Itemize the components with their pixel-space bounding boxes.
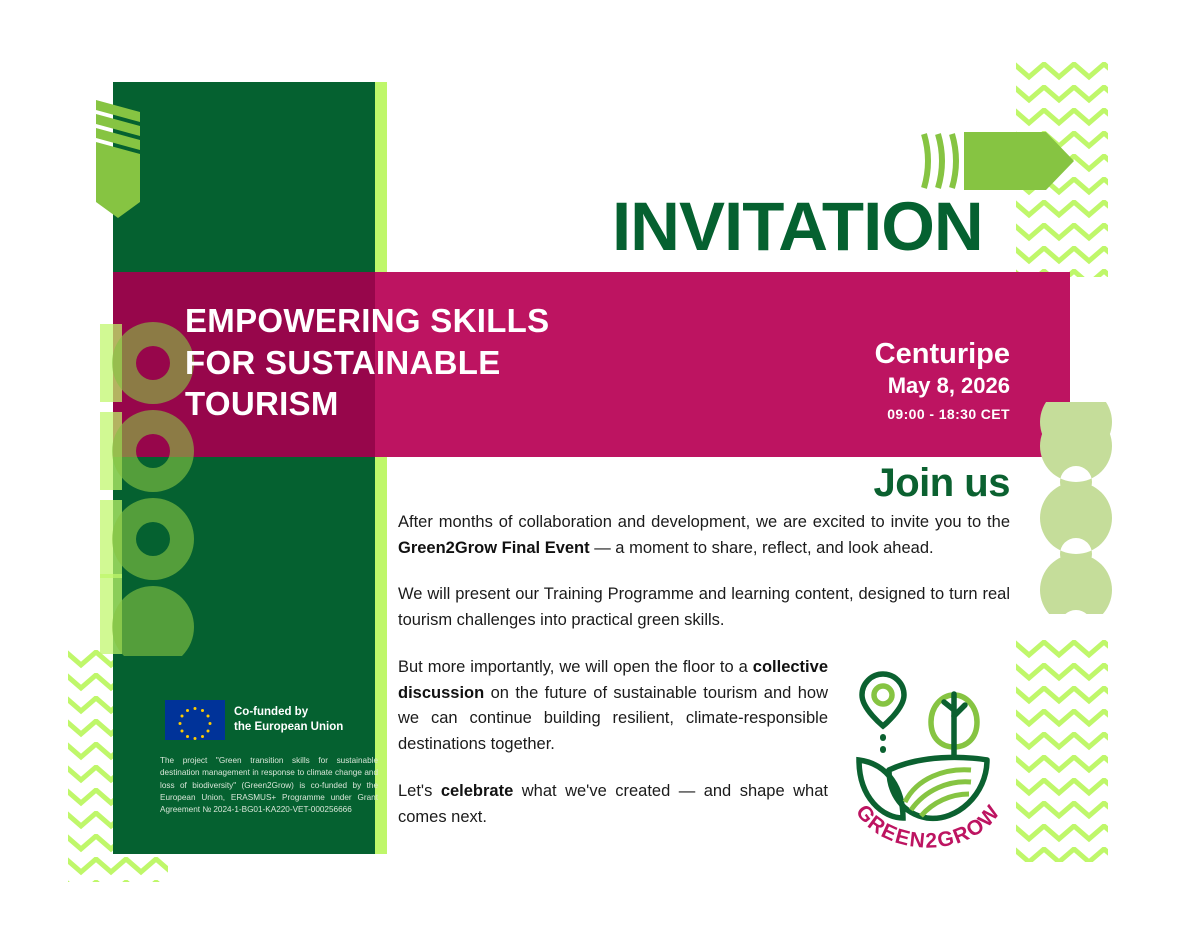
event-details: Centuripe May 8, 2026 09:00 - 18:30 CET — [700, 338, 1010, 428]
chevron-pattern-bottom-right — [1016, 640, 1108, 862]
event-time: 09:00 - 18:30 CET — [700, 401, 1010, 428]
event-title-line-2: FOR SUSTAINABLE — [185, 342, 655, 384]
eu-funding-line-1: Co-funded by — [234, 705, 343, 720]
body-paragraph-1: After months of collaboration and develo… — [398, 510, 1010, 561]
event-city: Centuripe — [700, 338, 1010, 371]
event-title: EMPOWERING SKILLS FOR SUSTAINABLE TOURIS… — [185, 300, 655, 425]
event-title-line-3: TOURISM — [185, 383, 655, 425]
ribbon-bookmark-shape — [90, 90, 150, 220]
body-paragraph-4: Let's celebrate what we've created — and… — [398, 779, 828, 830]
funding-disclaimer: The project "Green transition skills for… — [160, 755, 378, 816]
body-paragraph-2: We will present our Training Programme a… — [398, 582, 1010, 633]
invitation-heading: INVITATION — [612, 192, 1012, 261]
lime-accent-stripe — [375, 82, 387, 854]
eu-funding-line-2: the European Union — [234, 720, 343, 735]
body-paragraph-3: But more importantly, we will open the f… — [398, 655, 828, 758]
join-us-heading: Join us — [700, 463, 1010, 503]
european-union-flag-icon — [165, 700, 225, 740]
event-date: May 8, 2026 — [700, 371, 1010, 401]
green2grow-logo: GREEN2GROW — [845, 660, 1010, 855]
arrow-right-icon — [916, 130, 1076, 192]
circle-decoration-right — [1040, 402, 1112, 614]
event-title-line-1: EMPOWERING SKILLS — [185, 300, 655, 342]
eu-funding-badge: Co-funded by the European Union — [165, 700, 365, 740]
invitation-poster: INVITATION EMPOWERING SKILLS FOR SUSTAIN… — [0, 0, 1180, 950]
eu-funding-text: Co-funded by the European Union — [234, 705, 343, 734]
